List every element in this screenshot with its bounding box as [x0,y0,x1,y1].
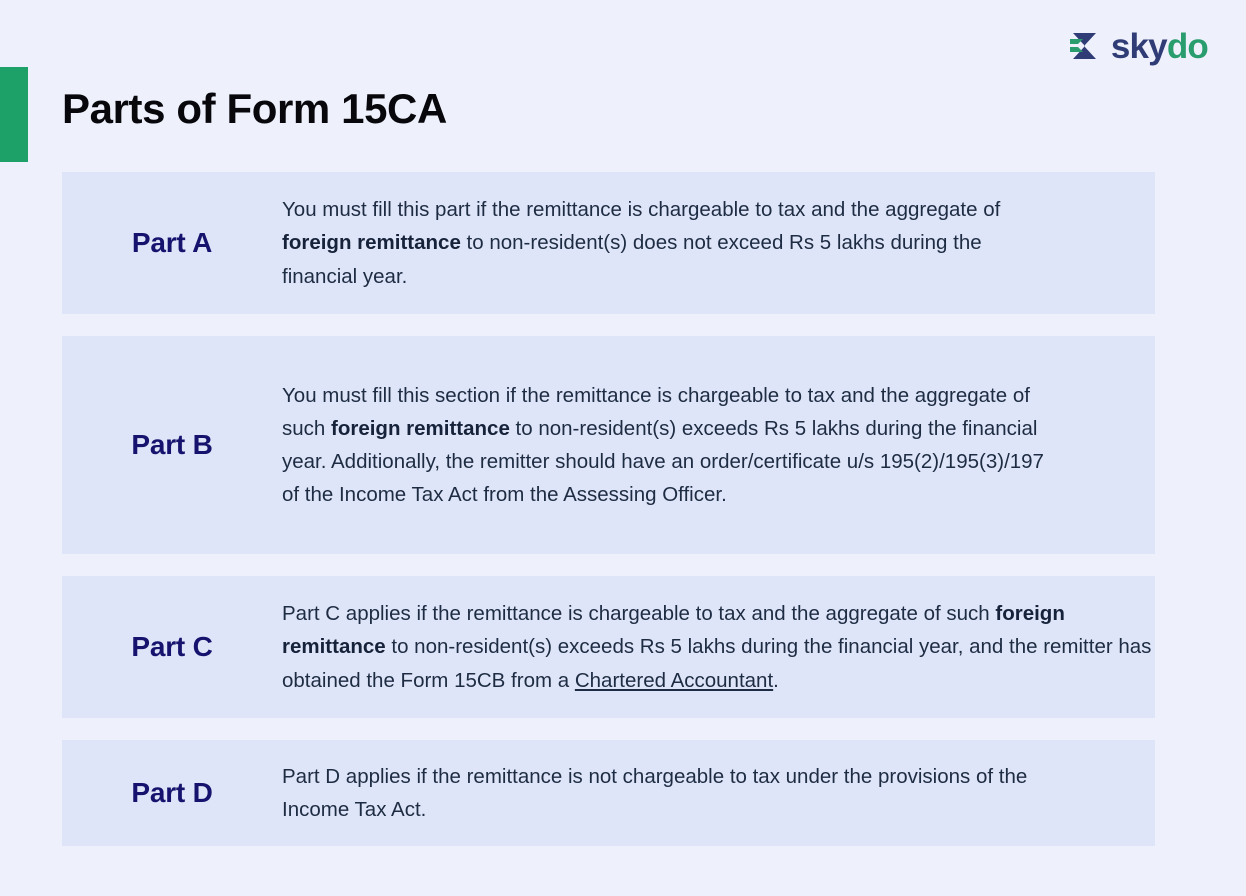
part-label-a: Part A [62,226,282,260]
part-card-a: Part A You must fill this part if the re… [62,172,1155,314]
body-text: Part C applies if the remittance is char… [282,602,995,625]
part-card-b: Part B You must fill this section if the… [62,336,1155,554]
body-text: You must fill this part if the remittanc… [282,198,1000,221]
part-description-b: You must fill this section if the remitt… [282,379,1155,512]
brand-wordmark: skydo [1111,29,1208,64]
brand-word-do: do [1167,27,1208,66]
emphasis-text: foreign remittance [331,417,510,440]
body-text: . [773,669,779,692]
part-label-c: Part C [62,630,282,664]
heading-accent-bar [0,67,28,162]
brand-word-sky: sky [1111,27,1167,66]
chartered-accountant-link[interactable]: Chartered Accountant [575,669,773,692]
part-card-c: Part C Part C applies if the remittance … [62,576,1155,718]
body-text: Part D applies if the remittance is not … [282,765,1027,821]
part-card-d: Part D Part D applies if the remittance … [62,740,1155,846]
emphasis-text: foreign remittance [282,231,461,254]
skydo-logo[interactable]: skydo [1070,26,1208,66]
part-label-b: Part B [62,428,282,462]
parts-list: Part A You must fill this part if the re… [62,172,1155,868]
part-description-c: Part C applies if the remittance is char… [282,597,1155,697]
page-title: Parts of Form 15CA [62,85,447,133]
skydo-chevron-icon [1070,31,1104,61]
part-description-a: You must fill this part if the remittanc… [282,193,1155,293]
part-label-d: Part D [62,776,282,810]
part-description-d: Part D applies if the remittance is not … [282,760,1155,826]
